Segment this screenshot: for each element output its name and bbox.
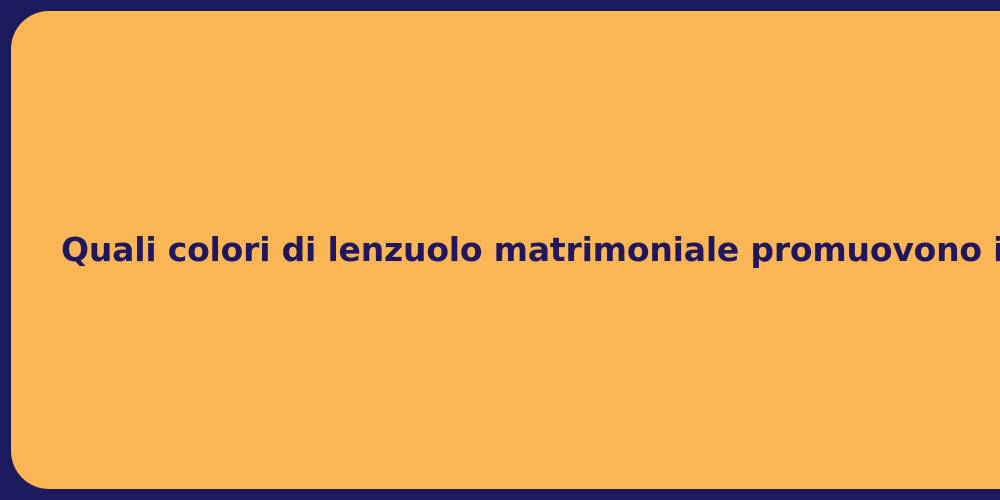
card-panel: Quali colori di lenzuolo matrimoniale pr… bbox=[11, 11, 1000, 489]
page-title: Quali colori di lenzuolo matrimoniale pr… bbox=[61, 229, 1000, 272]
card-outer-frame: Quali colori di lenzuolo matrimoniale pr… bbox=[0, 0, 1000, 500]
